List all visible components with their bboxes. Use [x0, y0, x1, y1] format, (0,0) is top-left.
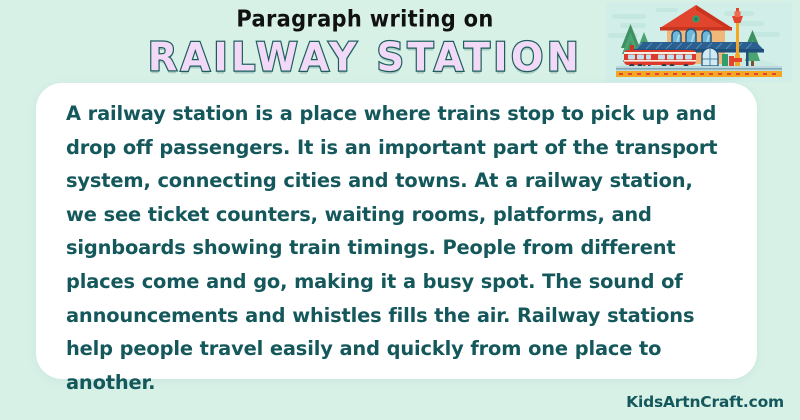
title-block: Paragraph writing on RAILWAY STATION — [140, 2, 590, 78]
poster-root: Paragraph writing on RAILWAY STATION — [0, 0, 800, 420]
content-card: A railway station is a place where train… — [36, 83, 757, 379]
railway-station-illustration — [606, 2, 792, 82]
brand-watermark: KidsArtnCraft.com — [626, 393, 784, 411]
page-title: RAILWAY STATION — [140, 34, 590, 80]
poster-header: Paragraph writing on RAILWAY STATION — [0, 0, 800, 84]
paragraph-body: A railway station is a place where train… — [66, 97, 726, 399]
kicker-text: Paragraph writing on — [140, 2, 590, 36]
